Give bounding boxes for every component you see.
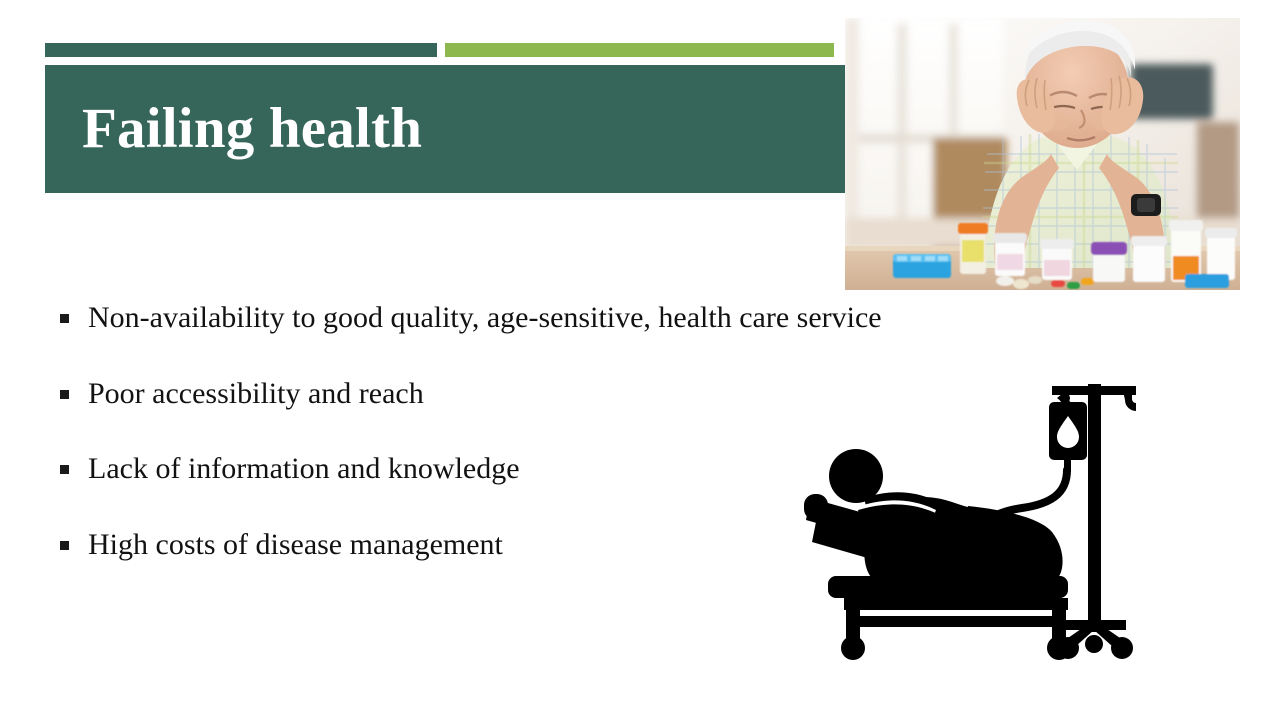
square-bullet-icon: [60, 314, 69, 323]
slide-title: Failing health: [82, 99, 422, 159]
iv-pole: [1088, 384, 1101, 632]
square-bullet-icon: [60, 541, 69, 550]
bullet-text: High costs of disease management: [88, 527, 503, 564]
patient-in-hospital-bed-with-iv-icon: [800, 372, 1160, 660]
square-bullet-icon: [60, 390, 69, 399]
accent-bar-left: [45, 43, 437, 57]
elderly-man-with-medication-photo: [845, 18, 1240, 290]
square-bullet-icon: [60, 465, 69, 474]
bullet-text: Poor accessibility and reach: [88, 376, 424, 413]
photo-artwork: [845, 18, 1240, 290]
list-item: Non-availability to good quality, age-se…: [60, 300, 1000, 337]
title-banner: Failing health: [45, 65, 845, 193]
bed-icon-artwork: [800, 372, 1160, 660]
bed-icon-shapes: [804, 384, 1136, 660]
bullet-text: Non-availability to good quality, age-se…: [88, 300, 882, 337]
accent-bar-right: [445, 43, 834, 57]
slide-canvas: Failing health Non-availability to good …: [0, 0, 1280, 720]
bullet-text: Lack of information and knowledge: [88, 451, 520, 488]
